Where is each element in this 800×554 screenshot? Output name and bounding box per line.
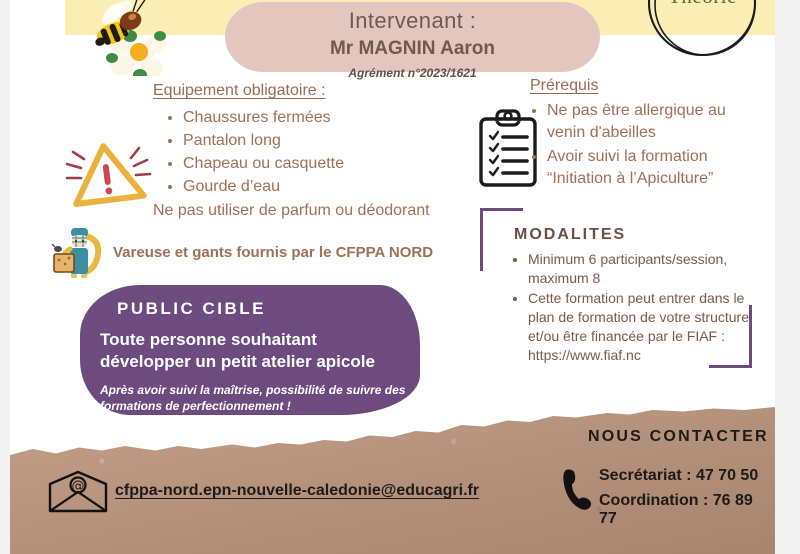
target-audience-note: Après avoir suivi la maîtrise, possibili…: [100, 382, 410, 414]
bee-on-flower-icon: [78, 0, 188, 76]
speaker-blob: Intervenant : Mr MAGNIN Aaron: [225, 2, 600, 72]
equipment-note: Ne pas utiliser de parfum ou déodorant: [153, 202, 453, 220]
target-audience-body: Toute personne souhaitant développer un …: [100, 329, 400, 373]
list-item: Minimum 6 participants/session, maximum …: [528, 250, 756, 288]
equipment-list: Chaussures fermées Pantalon long Chapeau…: [153, 107, 453, 198]
list-item: Chaussures fermées: [183, 107, 453, 129]
contact-title: NOUS CONTACTER: [588, 428, 769, 446]
prerequisites-heading: Prérequis: [530, 77, 598, 95]
speaker-name: Mr MAGNIN Aaron: [225, 38, 600, 60]
theorie-label: Théorie: [635, 0, 770, 9]
contact-phone-secretariat: Secrétariat : 47 70 50: [599, 467, 758, 485]
list-item: Ne pas être allergique au venin d'abeill…: [547, 100, 760, 144]
contact-email-link[interactable]: cfppa-nord.epn-nouvelle-caledonie@educag…: [115, 482, 479, 500]
modalities-title: MODALITES: [514, 226, 626, 244]
provided-equipment-text: Vareuse et gants fournis par le CFPPA NO…: [113, 244, 433, 261]
svg-text:@: @: [72, 479, 85, 494]
beekeeper-icon: [50, 222, 108, 278]
equipment-heading: Equipement obligatoire :: [153, 82, 453, 100]
poster-page: Théorie Intervenant : Mr MAGNIN Aaron Ag…: [10, 0, 775, 554]
list-item: Avoir suivi la formation “Initiation à l…: [547, 146, 760, 190]
contact-phone-coordination: Coordination : 76 89 77: [599, 492, 775, 528]
speaker-role-label: Intervenant :: [225, 8, 600, 34]
target-audience-blob: PUBLIC CIBLE Toute personne souhaitant d…: [80, 285, 420, 415]
warning-triangle-icon: [55, 128, 159, 212]
modalities-list: Minimum 6 participants/session, maximum …: [506, 250, 756, 366]
modalities-block: MODALITES Minimum 6 participants/session…: [480, 208, 770, 368]
list-item: Gourde d’eau: [183, 176, 453, 198]
target-audience-title: PUBLIC CIBLE: [117, 299, 266, 319]
list-item: Cette formation peut entrer dans le plan…: [528, 289, 756, 365]
equipment-block: Equipement obligatoire : Chaussures ferm…: [153, 82, 453, 220]
list-item: Chapeau ou casquette: [183, 153, 453, 175]
prerequisites-list: Ne pas être allergique au venin d'abeill…: [525, 100, 760, 190]
envelope-at-icon: @: [47, 470, 109, 514]
prerequisites-block: Ne pas être allergique au venin d'abeill…: [525, 100, 760, 192]
phone-icon: [561, 466, 591, 510]
theorie-badge: Théorie: [635, 0, 770, 58]
list-item: Pantalon long: [183, 130, 453, 152]
